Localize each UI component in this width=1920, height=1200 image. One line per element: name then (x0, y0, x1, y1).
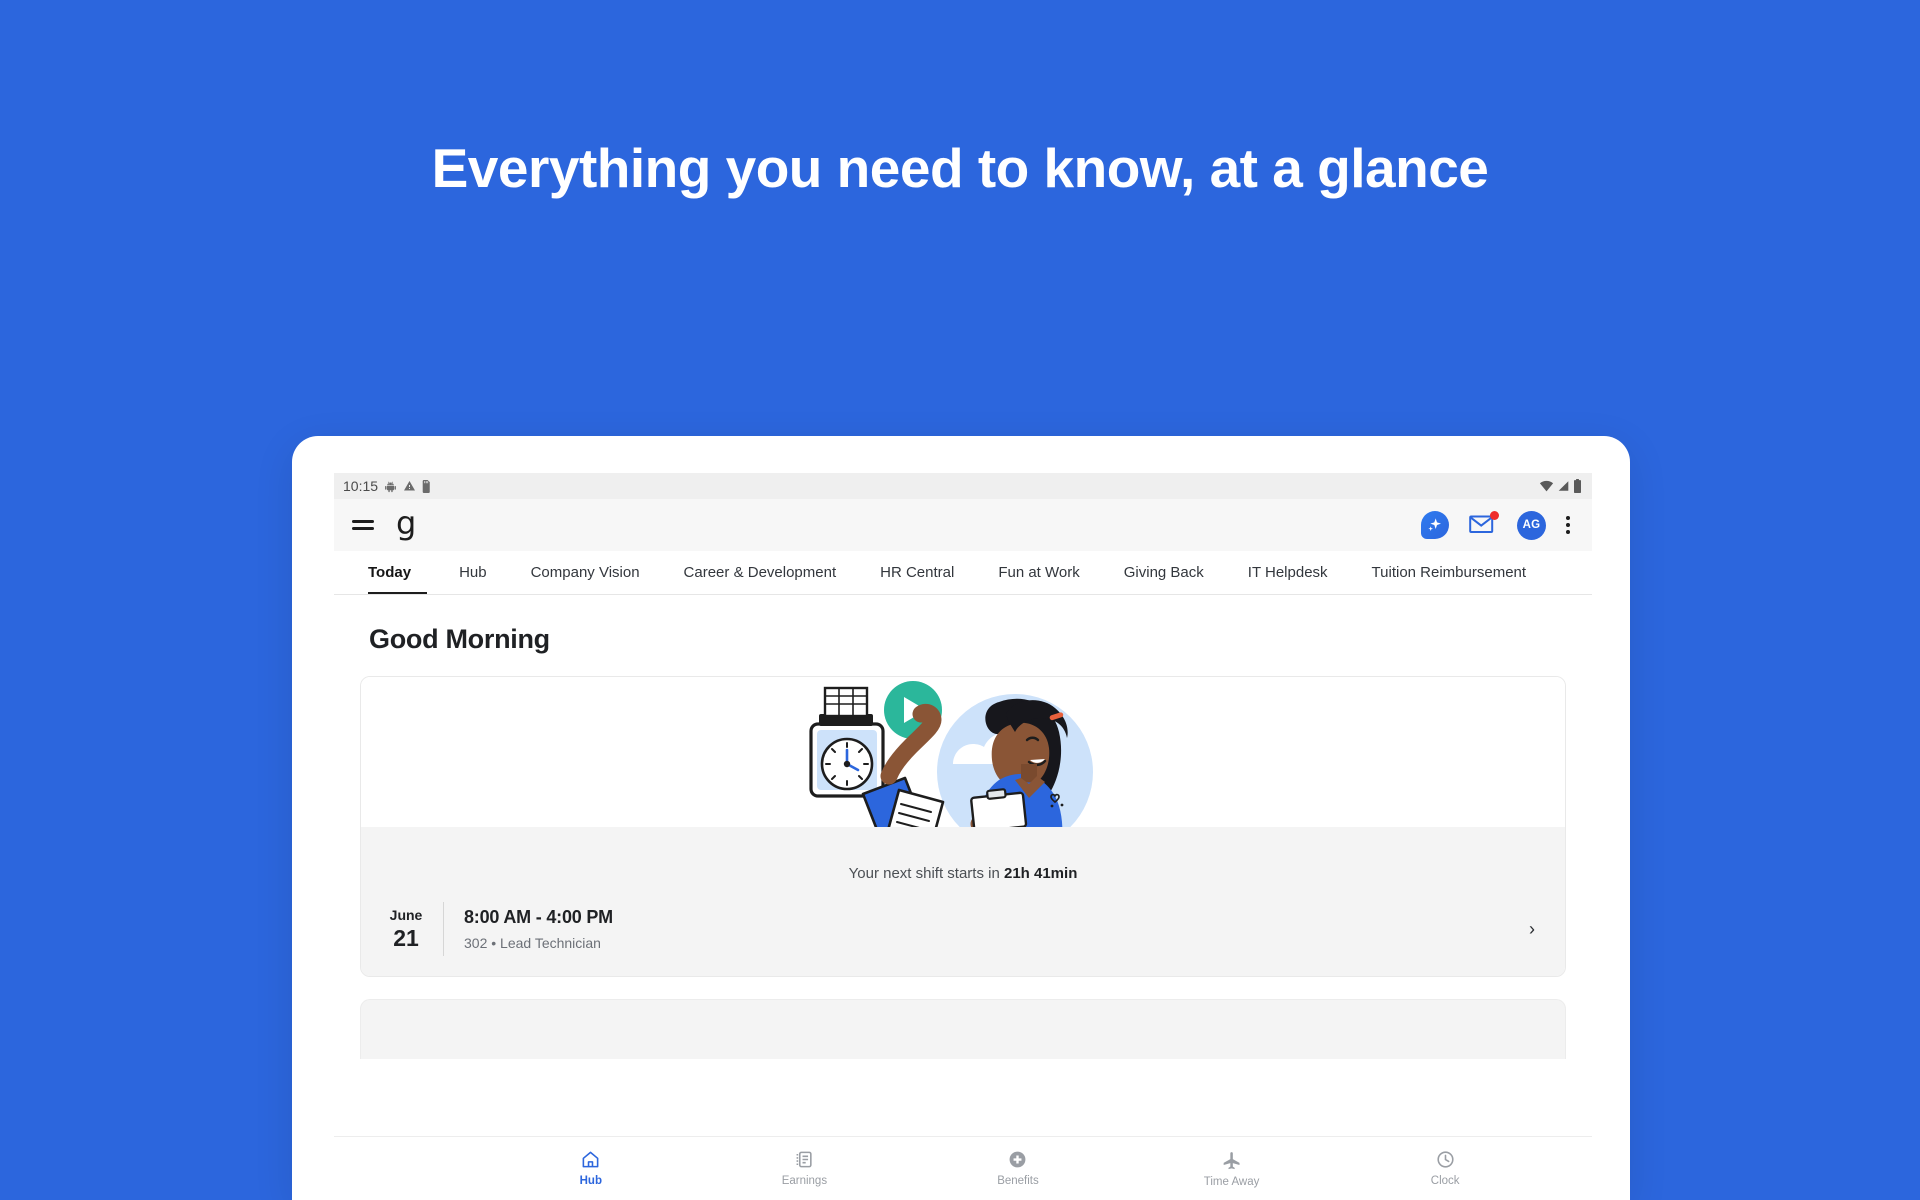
status-bar-clock: 10:15 (343, 478, 378, 494)
device-screen: 10:15 (334, 473, 1592, 1200)
tab-fun-at-work[interactable]: Fun at Work (976, 551, 1101, 594)
nav-label-time-away: Time Away (1204, 1176, 1260, 1188)
nav-label-hub: Hub (580, 1175, 602, 1187)
page-headline: Everything you need to know, at a glance (0, 138, 1920, 199)
shift-date: June 21 (387, 907, 443, 951)
home-icon (581, 1150, 600, 1169)
tab-hub[interactable]: Hub (437, 551, 509, 594)
nav-item-time-away[interactable]: Time Away (1125, 1150, 1339, 1188)
shift-month: June (387, 907, 425, 925)
mail-notification-badge (1490, 511, 1499, 520)
tab-strip[interactable]: Today Hub Company Vision Career & Develo… (334, 551, 1592, 595)
chevron-right-icon[interactable]: › (1529, 919, 1541, 940)
bottom-navigation[interactable]: Hub Earnings Benefits Tim (334, 1136, 1592, 1200)
tab-it-helpdesk[interactable]: IT Helpdesk (1226, 551, 1350, 594)
status-bar-right (1539, 479, 1582, 493)
worker-clock-illustration (803, 677, 1123, 827)
cellular-icon (1557, 480, 1570, 492)
warning-icon (403, 480, 416, 492)
nav-item-hub[interactable]: Hub (484, 1150, 698, 1187)
airplane-icon (1222, 1150, 1242, 1170)
tab-career-development[interactable]: Career & Development (662, 551, 859, 594)
nav-item-clock[interactable]: Clock (1338, 1150, 1552, 1187)
next-card-peek[interactable] (360, 999, 1566, 1059)
nav-item-benefits[interactable]: Benefits (911, 1150, 1125, 1187)
earnings-icon (795, 1150, 814, 1169)
android-debug-icon (384, 480, 397, 493)
shift-row[interactable]: June 21 8:00 AM - 4:00 PM 302 • Lead Tec… (361, 902, 1565, 956)
nav-label-earnings: Earnings (782, 1175, 827, 1187)
battery-icon (1573, 479, 1582, 493)
kebab-menu-icon[interactable] (1566, 513, 1570, 537)
page-title: Good Morning (360, 595, 1566, 676)
shift-countdown-value: 21h 41min (1004, 865, 1077, 882)
nav-label-benefits: Benefits (997, 1175, 1039, 1187)
mail-icon[interactable] (1469, 514, 1497, 536)
shift-details: Your next shift starts in 21h 41min June… (361, 827, 1565, 976)
shift-role: 302 • Lead Technician (464, 928, 613, 951)
tab-today[interactable]: Today (360, 551, 437, 594)
hamburger-menu-icon[interactable] (352, 516, 374, 535)
shift-day: 21 (387, 925, 425, 951)
wifi-icon (1539, 480, 1554, 492)
next-shift-card[interactable]: Your next shift starts in 21h 41min June… (360, 676, 1566, 977)
tab-giving-back[interactable]: Giving Back (1102, 551, 1226, 594)
shift-illustration (361, 677, 1565, 827)
nav-label-clock: Clock (1431, 1175, 1460, 1187)
main-content: Good Morning (334, 595, 1592, 1136)
android-status-bar: 10:15 (334, 473, 1592, 499)
tab-company-vision[interactable]: Company Vision (509, 551, 662, 594)
header-actions: AG (1421, 511, 1570, 540)
sdcard-icon (422, 480, 431, 493)
status-bar-left: 10:15 (343, 478, 431, 494)
shift-countdown: Your next shift starts in 21h 41min (361, 827, 1565, 902)
avatar[interactable]: AG (1517, 511, 1546, 540)
app-header: g AG (334, 499, 1592, 551)
clock-icon (1436, 1150, 1455, 1169)
device-frame: 10:15 (292, 436, 1630, 1200)
shift-countdown-prefix: Your next shift starts in (849, 865, 1004, 882)
ai-sparkle-icon[interactable] (1421, 511, 1449, 539)
brand-logo[interactable]: g (396, 507, 416, 539)
shift-time-range: 8:00 AM - 4:00 PM (464, 907, 613, 928)
benefits-icon (1008, 1150, 1027, 1169)
nav-item-earnings[interactable]: Earnings (698, 1150, 912, 1187)
shift-info: 8:00 AM - 4:00 PM 302 • Lead Technician (444, 907, 613, 951)
tab-hr-central[interactable]: HR Central (858, 551, 976, 594)
tab-tuition-reimbursement[interactable]: Tuition Reimbursement (1350, 551, 1549, 594)
